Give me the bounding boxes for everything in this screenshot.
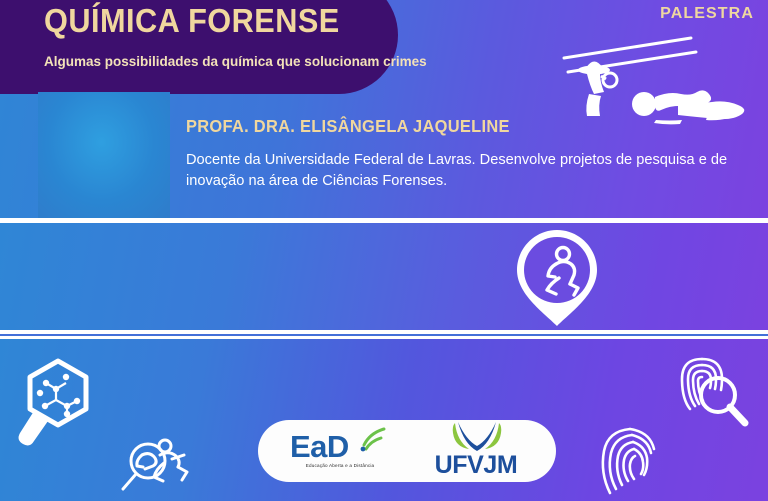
divider-top [0,218,768,223]
avatar [38,92,170,218]
page-title: QUÍMICA FORENSE [44,4,340,39]
map-pin-body-outline-icon [509,228,605,328]
avatar-backdrop [38,92,170,218]
ead-tagline: Educação Aberta e a Distância [284,463,396,468]
palestra-badge: PALESTRA [660,5,754,23]
event-band: CANAL YOUTUBE EAD-UFVJM 17 de Junho às 1… [0,223,768,330]
ead-logo: EaD Educação Aberta e a Distância [284,427,396,475]
ufvjm-wordmark: UFVJM [422,451,530,480]
poster-canvas: QUÍMICA FORENSE Algumas possibilidades d… [0,0,768,501]
detective-body-outline-icon [556,36,766,122]
speaker-bio: Docente da Universidade Federal de Lavra… [186,150,731,191]
ufvjm-logo: UFVJM [422,425,530,477]
divider-mid-a [0,330,768,334]
fingerprint-magnifier-icon [672,351,752,431]
speaker-name: PROFA. DRA. ELISÂNGELA JAQUELINE [186,116,510,137]
logo-pill: EaD Educação Aberta e a Distância UFVJM [258,420,556,482]
ead-wordmark: EaD [290,429,349,465]
hero-band: QUÍMICA FORENSE Algumas possibilidades d… [0,0,768,218]
divider-mid-b [0,336,768,339]
page-subtitle: Algumas possibilidades da química que so… [44,54,427,69]
fingerprint-icon [596,425,666,501]
hex-molecule-magnifier-icon [10,355,102,451]
ufvjm-leaf-icon [452,421,502,453]
ead-wifi-arc-icon [358,425,392,451]
running-figure-magnifier-icon [120,437,210,497]
